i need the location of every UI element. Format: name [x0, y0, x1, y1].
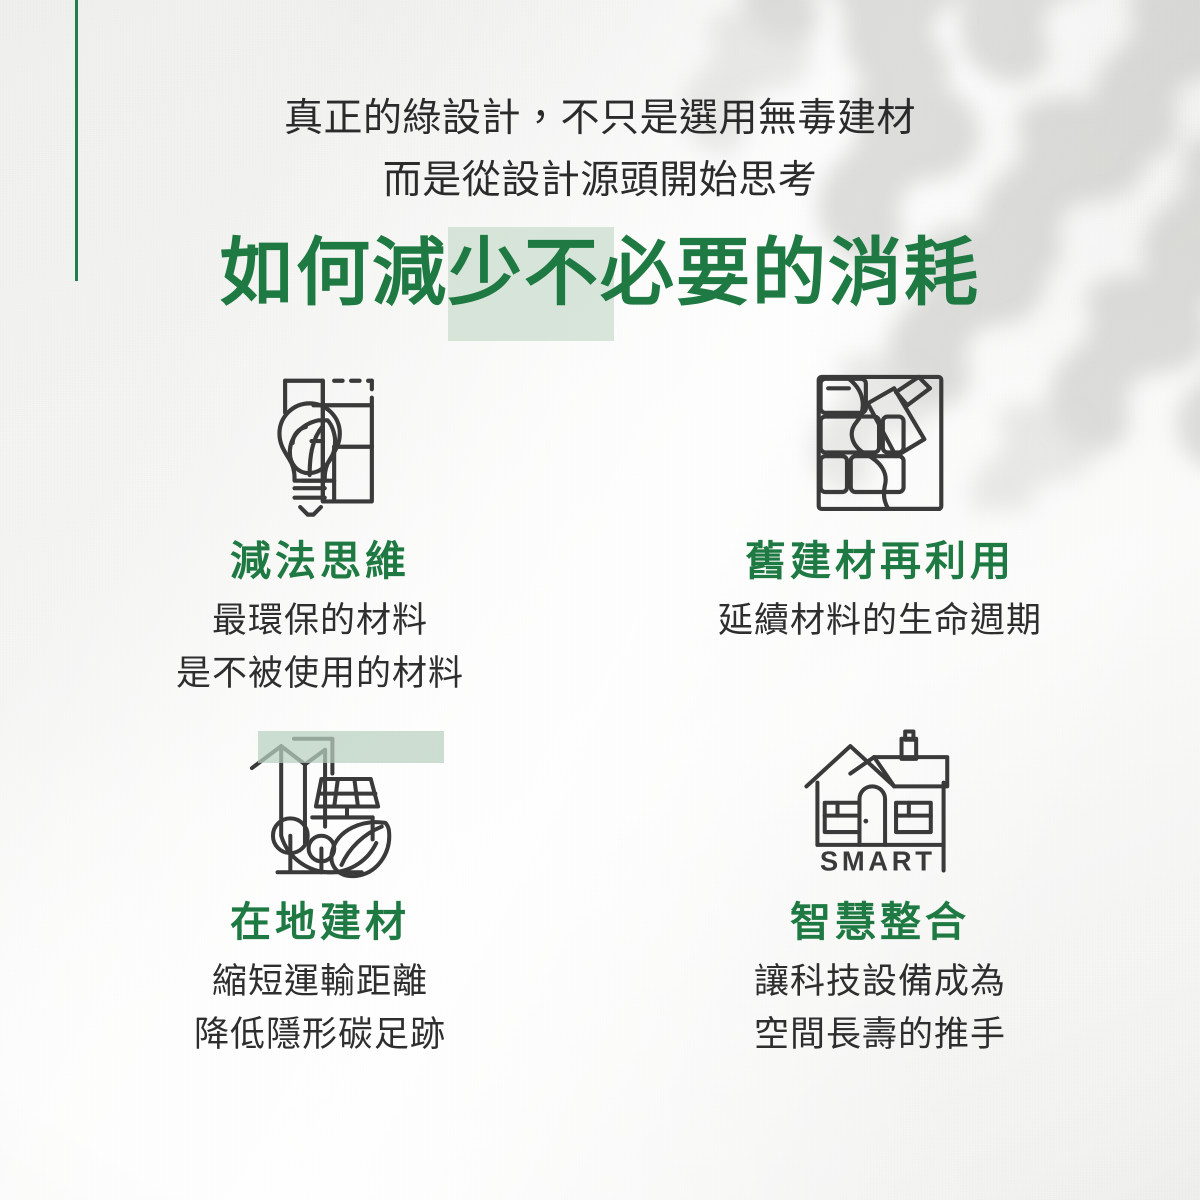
feature-card-description: 延續材料的生命週期	[718, 594, 1042, 647]
feature-card-title: 在地建材	[230, 898, 410, 947]
brick-wall-trowel-icon	[790, 360, 970, 525]
feature-card-title: 減法思維	[230, 537, 410, 586]
feature-card-material-reuse[interactable]: 舊建材再利用 延續材料的生命週期	[600, 360, 1160, 700]
header-block: 真正的綠設計，不只是選用無毒建材 而是從設計源頭開始思考 如何減少不必要的消耗	[0, 88, 1200, 315]
description-line-2: 是不被使用的材料	[176, 647, 464, 700]
feature-card-description: 讓科技設備成為 空間長壽的推手	[754, 955, 1006, 1061]
poster-canvas: 真正的綠設計，不只是選用無毒建材 而是從設計源頭開始思考 如何減少不必要的消耗	[0, 0, 1200, 1200]
description-line-1: 縮短運輸距離	[194, 955, 446, 1008]
description-line-1: 讓科技設備成為	[754, 955, 1006, 1008]
description-highlight-band	[258, 731, 444, 763]
description-line-1: 最環保的材料	[176, 594, 464, 647]
description-line-2: 空間長壽的推手	[754, 1008, 1006, 1061]
feature-card-title: 舊建材再利用	[745, 537, 1015, 586]
description-line-1: 延續材料的生命週期	[718, 594, 1042, 647]
feature-card-local-materials[interactable]: 在地建材 縮短運輸距離 降低隱形碳足跡	[40, 726, 600, 1061]
description-line-2: 降低隱形碳足跡	[194, 1008, 446, 1061]
feature-card-description: 縮短運輸距離 降低隱形碳足跡	[194, 955, 446, 1061]
page-title-wrapper: 如何減少不必要的消耗	[220, 232, 980, 315]
feature-card-title: 智慧整合	[790, 898, 970, 947]
lightbulb-leaf-blueprint-icon	[230, 360, 410, 525]
subtitle-line-2: 而是從設計源頭開始思考	[0, 150, 1200, 212]
feature-card-description: 最環保的材料 是不被使用的材料	[176, 594, 464, 700]
feature-card-smart-integration[interactable]: SMART 智慧整合 讓科技設備成為 空間長壽的推手	[600, 726, 1160, 1061]
feature-card-subtractive-thinking[interactable]: 減法思維 最環保的材料 是不被使用的材料	[40, 360, 600, 700]
page-title: 如何減少不必要的消耗	[220, 232, 980, 315]
subtitle-line-1: 真正的綠設計，不只是選用無毒建材	[0, 88, 1200, 150]
smart-house-icon: SMART	[793, 726, 968, 886]
smart-label: SMART	[819, 846, 935, 877]
feature-grid: 減法思維 最環保的材料 是不被使用的材料	[40, 360, 1160, 1061]
